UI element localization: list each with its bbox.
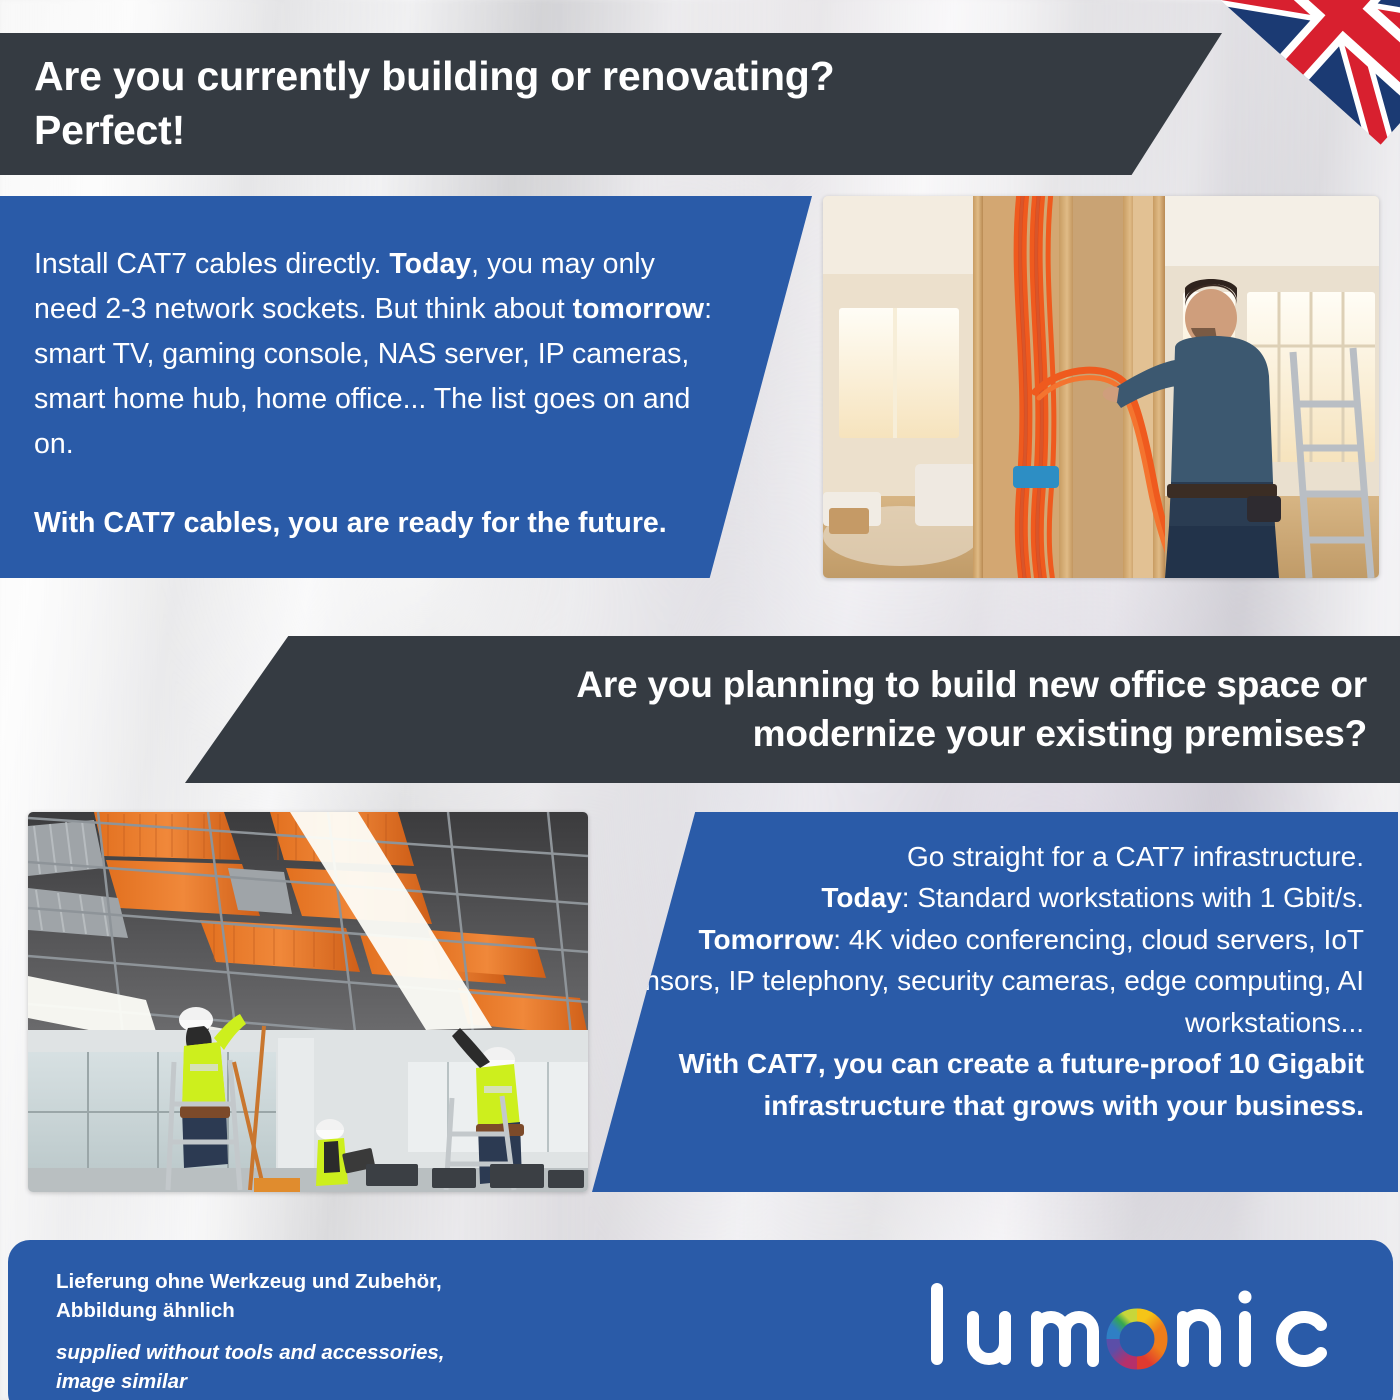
disclaimer-german: Lieferung ohne Werkzeug und Zubehör, Abb… bbox=[56, 1267, 444, 1325]
headline-primary-line-1: Are you currently building or renovating… bbox=[34, 50, 1222, 104]
disclaimer-english-line-2: image similar bbox=[56, 1367, 444, 1396]
headline-secondary-line-2: modernize your existing premises? bbox=[185, 710, 1367, 758]
headline-banner-secondary: Are you planning to build new office spa… bbox=[185, 636, 1400, 783]
color-wheel-o-icon bbox=[1113, 1315, 1161, 1363]
headline-secondary-line-1: Are you planning to build new office spa… bbox=[185, 661, 1367, 709]
headline-primary-line-2: Perfect! bbox=[34, 104, 1222, 158]
photo-office-ceiling-cable-tray bbox=[28, 812, 588, 1192]
content-panel-office: Go straight for a CAT7 infrastructure. T… bbox=[592, 812, 1398, 1192]
panel-office-label-today: Today bbox=[821, 882, 901, 913]
headline-banner-primary: Are you currently building or renovating… bbox=[0, 33, 1222, 175]
lumonic-logo bbox=[919, 1273, 1339, 1393]
panel-office-line-1: Go straight for a CAT7 infrastructure. bbox=[592, 836, 1364, 877]
panel-office-tomorrow-row: Tomorrow: 4K video conferencing, cloud s… bbox=[592, 919, 1364, 1043]
panel-home-text-a: Install CAT7 cables directly. bbox=[34, 248, 389, 280]
disclaimer-note: Lieferung ohne Werkzeug und Zubehör, Abb… bbox=[56, 1267, 444, 1396]
content-panel-home: Install CAT7 cables directly. Today, you… bbox=[0, 196, 812, 578]
panel-office-closing: With CAT7, you can create a future-proof… bbox=[592, 1043, 1364, 1126]
panel-office-today-text: : Standard workstations with 1 Gbit/s. bbox=[902, 882, 1364, 913]
panel-home-emphasis-today: Today bbox=[389, 248, 471, 280]
panel-home-spacer bbox=[34, 467, 812, 501]
panel-office-closing-text: With CAT7, you can create a future-proof… bbox=[679, 1048, 1364, 1120]
panel-home-paragraph-1: Install CAT7 cables directly. Today, you… bbox=[34, 242, 724, 467]
footer-bar: Lieferung ohne Werkzeug und Zubehör, Abb… bbox=[8, 1240, 1393, 1400]
panel-home-paragraph-2: With CAT7 cables, you are ready for the … bbox=[34, 501, 724, 546]
disclaimer-german-line-1: Lieferung ohne Werkzeug und Zubehör, bbox=[56, 1267, 444, 1296]
panel-office-today-row: Today: Standard workstations with 1 Gbit… bbox=[592, 877, 1364, 918]
disclaimer-english: supplied without tools and accessories, … bbox=[56, 1338, 444, 1396]
photo-home-cat7-wall-installation bbox=[823, 196, 1379, 578]
disclaimer-english-line-1: supplied without tools and accessories, bbox=[56, 1338, 444, 1367]
panel-office-label-tomorrow: Tomorrow bbox=[698, 924, 833, 955]
panel-home-closing: With CAT7 cables, you are ready for the … bbox=[34, 507, 667, 539]
panel-home-emphasis-tomorrow: tomorrow bbox=[573, 293, 704, 325]
disclaimer-german-line-2: Abbildung ähnlich bbox=[56, 1296, 444, 1325]
